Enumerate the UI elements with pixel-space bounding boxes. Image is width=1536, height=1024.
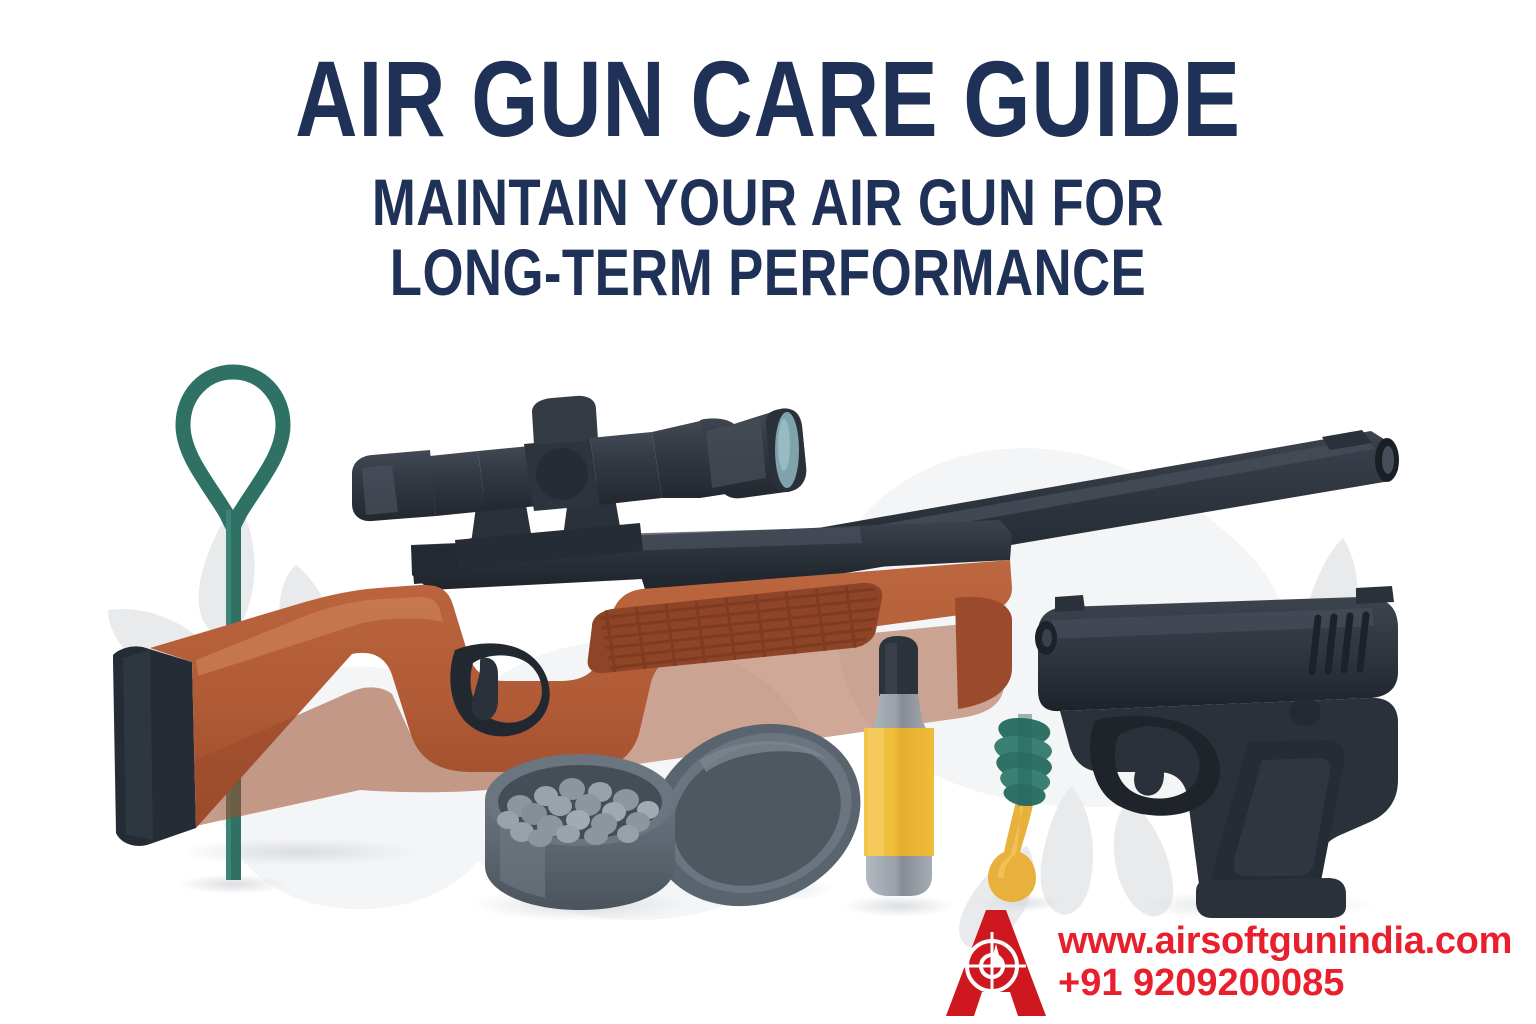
brand-footer[interactable]: www.airsoftgunindia.com +91 9209200085	[944, 905, 1504, 1020]
brand-website[interactable]: www.airsoftgunindia.com	[1058, 921, 1512, 962]
oil-bottle-label-highlight	[868, 728, 884, 856]
pistol-muzzle-bore	[1042, 629, 1052, 647]
shadow-bottle	[843, 895, 955, 917]
rifle-butt-pad-highlight	[123, 650, 153, 840]
scope-tube-rear	[430, 451, 486, 516]
oil-bottle-cap	[879, 636, 918, 696]
pellet	[584, 827, 608, 845]
pellet	[556, 825, 580, 843]
pellet-tin	[485, 754, 675, 910]
bore-brush-bristles	[994, 714, 1052, 806]
rifle-muzzle-bore	[1382, 446, 1394, 474]
scope-lens-glint	[778, 419, 790, 471]
poster-canvas: AIR GUN CARE GUIDE MAINTAIN YOUR AIR GUN…	[0, 0, 1536, 1024]
rifle-trigger	[472, 658, 498, 721]
oil-bottle-cap-highlight	[885, 642, 897, 694]
cleaning-rod-loop	[183, 372, 283, 527]
pistol-front-sight	[1055, 595, 1085, 612]
pistol-takedown-pin	[1289, 698, 1321, 726]
brand-logo-letter-a	[946, 910, 1046, 1016]
illustration	[0, 0, 1536, 1024]
brand-phone[interactable]: +91 9209200085	[1058, 963, 1512, 1004]
rifle-forend-tip	[955, 597, 1012, 709]
brand-contact: www.airsoftgunindia.com +91 9209200085	[1058, 921, 1512, 1003]
pistol-rear-sight	[1356, 586, 1394, 604]
bore-brush	[988, 714, 1052, 902]
scope-turret-ring	[536, 448, 588, 500]
scope-tube-front	[590, 432, 662, 505]
scope-elevation-turret	[532, 396, 598, 445]
brand-logo[interactable]	[944, 908, 1048, 1018]
pellet	[617, 825, 639, 843]
air-pistol	[1035, 586, 1398, 918]
pellet	[548, 796, 572, 816]
scope-eyepiece-highlight	[362, 465, 398, 515]
shadow-rifle	[180, 838, 420, 866]
pellet	[528, 829, 552, 847]
